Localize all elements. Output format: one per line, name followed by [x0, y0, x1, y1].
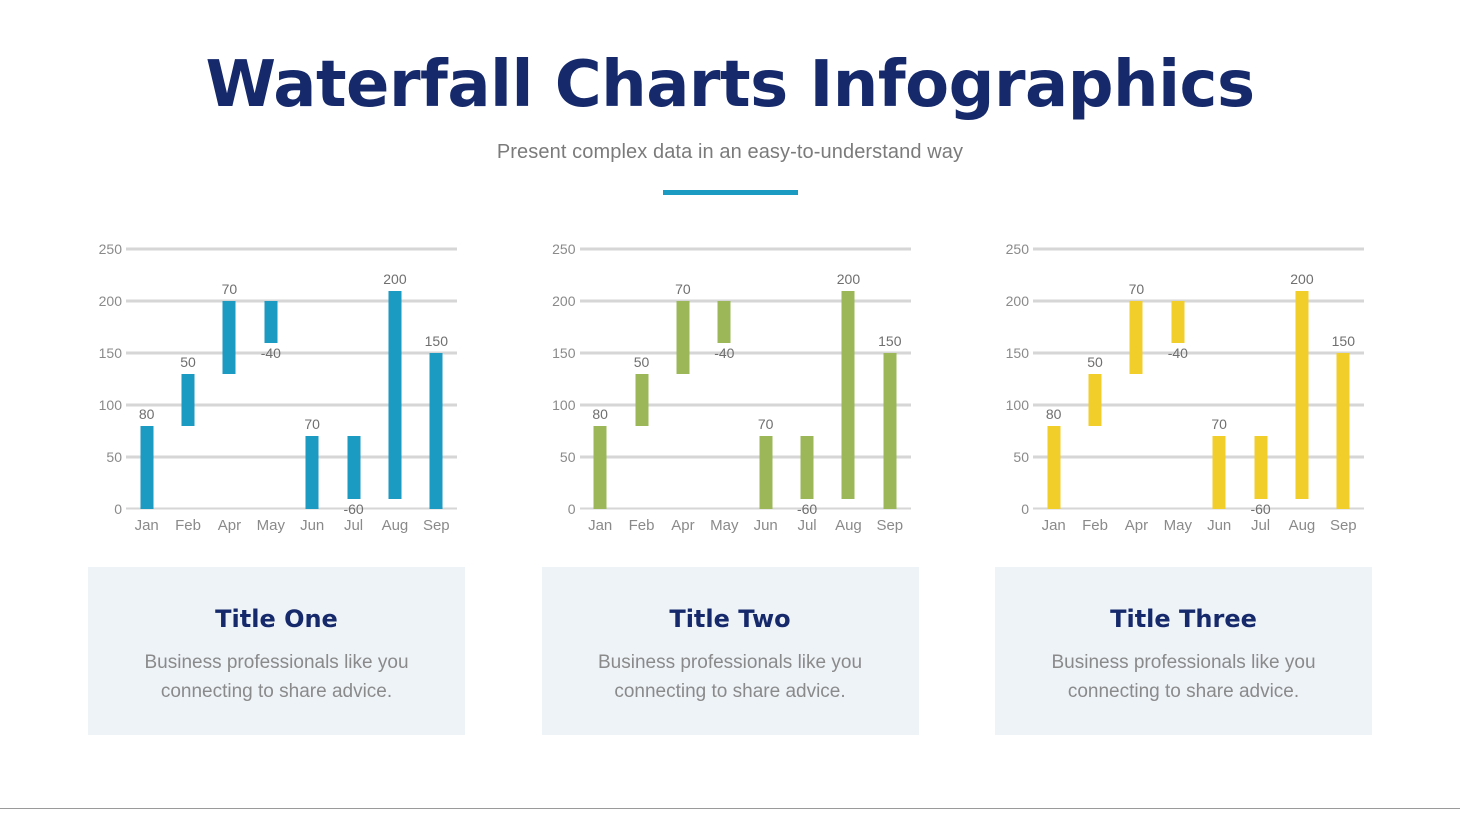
x-axis-tick-label: Apr [218, 517, 241, 534]
bar-slot[interactable]: 70 [1116, 249, 1157, 509]
waterfall-bar[interactable] [801, 436, 814, 498]
waterfall-bar[interactable] [182, 374, 195, 426]
x-axis-tick-label: Feb [629, 517, 655, 534]
bar-value-label: -40 [1168, 345, 1188, 361]
bar-value-label: 200 [1290, 271, 1313, 287]
x-axis-tick-label: Jun [754, 517, 778, 534]
bar-value-label: 50 [1087, 354, 1103, 370]
bar-slot[interactable]: 70 [209, 249, 250, 509]
plot-area: 805070-4070-60200150 [580, 249, 911, 509]
bar-group: 805070-4070-60200150 [1033, 249, 1364, 509]
waterfall-bar[interactable] [759, 436, 772, 509]
bar-value-label: 80 [1046, 406, 1062, 422]
bar-value-label: 150 [1332, 333, 1355, 349]
waterfall-bar[interactable] [635, 374, 648, 426]
waterfall-bar[interactable] [1337, 353, 1350, 509]
y-axis-tick-label: 100 [99, 397, 122, 413]
x-axis-tick-label: Feb [1082, 517, 1108, 534]
bar-slot[interactable]: 70 [1199, 249, 1240, 509]
bar-slot[interactable]: 50 [167, 249, 208, 509]
bar-slot[interactable]: 80 [580, 249, 621, 509]
bar-slot[interactable]: -40 [250, 249, 291, 509]
x-axis-tick-label: Feb [175, 517, 201, 534]
waterfall-chart: 250200150100500805070-4070-60200150JanFe… [995, 235, 1372, 545]
x-axis-tick-label: Jan [135, 517, 159, 534]
y-axis-tick-label: 250 [552, 241, 575, 257]
x-axis-tick-label: Jun [300, 517, 324, 534]
card-body-text: Business professionals like you connecti… [1013, 649, 1354, 706]
bar-value-label: -40 [714, 345, 734, 361]
x-axis-tick-label: May [257, 517, 285, 534]
columns-container: 250200150100500805070-4070-60200150JanFe… [0, 235, 1460, 735]
y-axis-tick-label: 100 [552, 397, 575, 413]
y-axis-tick-label: 200 [99, 293, 122, 309]
plot-area: 805070-4070-60200150 [1033, 249, 1364, 509]
plot-area: 805070-4070-60200150 [126, 249, 457, 509]
bar-slot[interactable]: -60 [786, 249, 827, 509]
y-axis-tick-label: 50 [1013, 449, 1029, 465]
waterfall-bar[interactable] [1130, 301, 1143, 374]
waterfall-bar[interactable] [388, 291, 401, 499]
header: Waterfall Charts Infographics Present co… [0, 0, 1460, 195]
waterfall-bar[interactable] [1213, 436, 1226, 509]
info-card: Title OneBusiness professionals like you… [88, 567, 465, 735]
card-title: Title Three [1013, 605, 1354, 633]
waterfall-bar[interactable] [676, 301, 689, 374]
waterfall-bar[interactable] [1254, 436, 1267, 498]
y-axis-tick-label: 0 [114, 501, 122, 517]
waterfall-bar[interactable] [1089, 374, 1102, 426]
y-axis-tick-label: 250 [1006, 241, 1029, 257]
y-axis-tick-label: 150 [1006, 345, 1029, 361]
waterfall-bar[interactable] [842, 291, 855, 499]
waterfall-bar[interactable] [430, 353, 443, 509]
x-axis-tick-label: Jul [797, 517, 816, 534]
waterfall-bar[interactable] [264, 301, 277, 343]
y-axis-tick-label: 50 [106, 449, 122, 465]
y-axis-tick-label: 250 [99, 241, 122, 257]
chart-column: 250200150100500805070-4070-60200150JanFe… [88, 235, 465, 735]
bar-slot[interactable]: -40 [1157, 249, 1198, 509]
waterfall-bar[interactable] [347, 436, 360, 498]
bar-slot[interactable]: 150 [869, 249, 910, 509]
bar-slot[interactable]: -60 [333, 249, 374, 509]
bar-group: 805070-4070-60200150 [580, 249, 911, 509]
bar-value-label: 70 [1129, 281, 1145, 297]
y-axis-tick-label: 0 [1021, 501, 1029, 517]
x-axis: JanFebAprMayJunJulAugSep [126, 517, 457, 541]
x-axis-tick-label: Aug [835, 517, 862, 534]
bar-value-label: 70 [222, 281, 238, 297]
y-axis-tick-label: 50 [560, 449, 576, 465]
waterfall-bar[interactable] [306, 436, 319, 509]
bar-value-label: 150 [878, 333, 901, 349]
footer-divider [0, 808, 1460, 809]
bar-value-label: 50 [634, 354, 650, 370]
waterfall-bar[interactable] [1295, 291, 1308, 499]
card-body-text: Business professionals like you connecti… [560, 649, 901, 706]
bar-slot[interactable]: 200 [828, 249, 869, 509]
bar-slot[interactable]: 70 [745, 249, 786, 509]
bar-value-label: -60 [797, 501, 817, 517]
page-title: Waterfall Charts Infographics [0, 52, 1460, 119]
bar-slot[interactable]: 200 [1281, 249, 1322, 509]
bar-slot[interactable]: 80 [1033, 249, 1074, 509]
card-body-text: Business professionals like you connecti… [106, 649, 447, 706]
x-axis-tick-label: May [1164, 517, 1192, 534]
y-axis: 250200150100500 [995, 249, 1029, 509]
x-axis-tick-label: Jan [588, 517, 612, 534]
accent-underline [663, 190, 798, 195]
y-axis-tick-label: 150 [99, 345, 122, 361]
bar-group: 805070-4070-60200150 [126, 249, 457, 509]
bar-slot[interactable]: 150 [416, 249, 457, 509]
y-axis-tick-label: 150 [552, 345, 575, 361]
waterfall-chart: 250200150100500805070-4070-60200150JanFe… [88, 235, 465, 545]
bar-value-label: -60 [1250, 501, 1270, 517]
info-card: Title ThreeBusiness professionals like y… [995, 567, 1372, 735]
y-axis-tick-label: 200 [552, 293, 575, 309]
bar-value-label: 70 [758, 416, 774, 432]
y-axis: 250200150100500 [542, 249, 576, 509]
x-axis-tick-label: Jul [1251, 517, 1270, 534]
bar-value-label: -60 [343, 501, 363, 517]
x-axis-tick-label: Apr [671, 517, 694, 534]
waterfall-bar[interactable] [718, 301, 731, 343]
y-axis-tick-label: 0 [568, 501, 576, 517]
bar-value-label: 80 [592, 406, 608, 422]
waterfall-chart: 250200150100500805070-4070-60200150JanFe… [542, 235, 919, 545]
bar-slot[interactable]: 150 [1323, 249, 1364, 509]
waterfall-bar[interactable] [1047, 426, 1060, 509]
bar-value-label: 200 [837, 271, 860, 287]
bar-value-label: 80 [139, 406, 155, 422]
x-axis: JanFebAprMayJunJulAugSep [580, 517, 911, 541]
bar-slot[interactable]: 70 [292, 249, 333, 509]
bar-slot[interactable]: -40 [704, 249, 745, 509]
card-title: Title Two [560, 605, 901, 633]
bar-slot[interactable]: 50 [1074, 249, 1115, 509]
chart-column: 250200150100500805070-4070-60200150JanFe… [995, 235, 1372, 735]
y-axis-tick-label: 100 [1006, 397, 1029, 413]
bar-value-label: 150 [425, 333, 448, 349]
x-axis-tick-label: Sep [1330, 517, 1357, 534]
waterfall-bar[interactable] [594, 426, 607, 509]
waterfall-bar[interactable] [140, 426, 153, 509]
x-axis-tick-label: Jan [1042, 517, 1066, 534]
x-axis-tick-label: Aug [382, 517, 409, 534]
bar-value-label: 70 [675, 281, 691, 297]
bar-slot[interactable]: 50 [621, 249, 662, 509]
card-title: Title One [106, 605, 447, 633]
x-axis: JanFebAprMayJunJulAugSep [1033, 517, 1364, 541]
waterfall-bar[interactable] [883, 353, 896, 509]
info-card: Title TwoBusiness professionals like you… [542, 567, 919, 735]
x-axis-tick-label: Jul [344, 517, 363, 534]
bar-value-label: 70 [304, 416, 320, 432]
waterfall-bar[interactable] [1171, 301, 1184, 343]
waterfall-bar[interactable] [223, 301, 236, 374]
x-axis-tick-label: Sep [876, 517, 903, 534]
bar-value-label: -40 [261, 345, 281, 361]
bar-value-label: 50 [180, 354, 196, 370]
bar-value-label: 70 [1211, 416, 1227, 432]
x-axis-tick-label: May [710, 517, 738, 534]
bar-slot[interactable]: -60 [1240, 249, 1281, 509]
x-axis-tick-label: Apr [1125, 517, 1148, 534]
page-subtitle: Present complex data in an easy-to-under… [0, 141, 1460, 164]
bar-slot[interactable]: 80 [126, 249, 167, 509]
x-axis-tick-label: Sep [423, 517, 450, 534]
x-axis-tick-label: Aug [1289, 517, 1316, 534]
y-axis: 250200150100500 [88, 249, 122, 509]
x-axis-tick-label: Jun [1207, 517, 1231, 534]
chart-column: 250200150100500805070-4070-60200150JanFe… [542, 235, 919, 735]
bar-slot[interactable]: 200 [374, 249, 415, 509]
bar-value-label: 200 [383, 271, 406, 287]
y-axis-tick-label: 200 [1006, 293, 1029, 309]
bar-slot[interactable]: 70 [662, 249, 703, 509]
